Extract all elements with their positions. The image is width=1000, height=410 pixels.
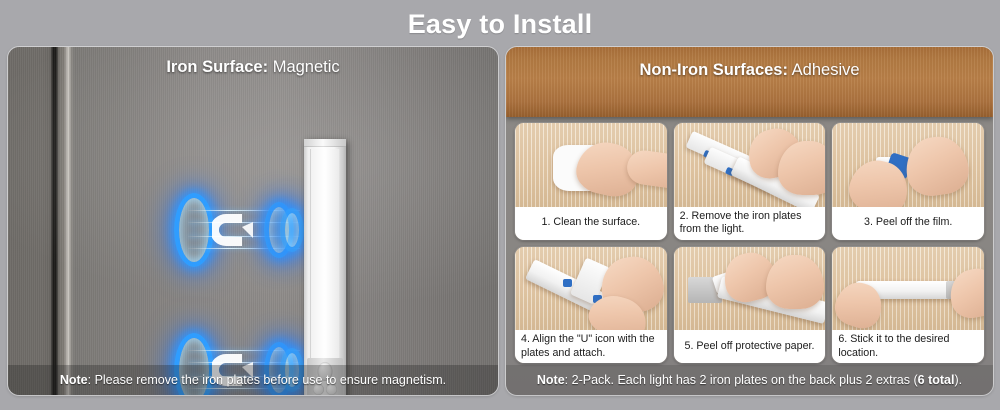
note-label: Note [60,373,88,387]
iron-surface-note: Note: Please remove the iron plates befo… [8,365,498,395]
hand [946,264,984,322]
step-caption-2: 2. Remove the iron plates from the light… [674,207,826,240]
install-steps-grid: 1. Clean the surface. 2. Remove the iron… [515,123,984,363]
note-text: : Please remove the iron plates before u… [88,373,447,387]
step-photo-3 [832,123,984,207]
light-bar-diffuser [310,149,340,359]
non-iron-surface-title-bold: Non-Iron Surfaces: [639,61,788,79]
wood-header-band: Non-Iron Surfaces: Adhesive [506,47,993,117]
step-card-3: 3. Peel off the film. [832,123,984,240]
step-photo-5 [674,247,826,331]
step-caption-6: 6. Stick it to the desired location. [832,330,984,363]
note-label: Note [537,373,565,387]
non-iron-surface-title-rest: Adhesive [788,61,860,79]
note-text-bold: 6 total [918,373,955,387]
step-photo-6 [832,247,984,331]
led-light-bar [304,139,346,395]
step-card-1: 1. Clean the surface. [515,123,667,240]
non-iron-surface-panel: Non-Iron Surfaces: Adhesive 1. Clean the… [506,47,993,395]
iron-surface-panel: Iron Surface: Magnetic [8,47,498,395]
note-text: : 2-Pack. Each light has 2 iron plates o… [565,373,918,387]
non-iron-surface-title: Non-Iron Surfaces: Adhesive [506,61,993,80]
iron-surface-title: Iron Surface: Magnetic [8,58,498,77]
hand [766,255,824,309]
non-iron-surface-note: Note: 2-Pack. Each light has 2 iron plat… [506,365,993,395]
iron-surface-title-rest: Magnetic [268,58,340,76]
step-card-6: 6. Stick it to the desired location. [832,247,984,364]
step-caption-1: 1. Clean the surface. [515,207,667,240]
step-photo-1 [515,123,667,207]
step-card-2: 2. Remove the iron plates from the light… [674,123,826,240]
step-card-4: 4. Align the "U" icon with the plates an… [515,247,667,364]
step-caption-4: 4. Align the "U" icon with the plates an… [515,330,667,363]
horseshoe-magnet-icon [212,210,254,250]
note-text-tail: ). [954,373,962,387]
step-caption-5: 5. Peel off protective paper. [674,330,826,363]
page-title: Easy to Install [0,2,1000,46]
step-card-5: 5. Peel off protective paper. [674,247,826,364]
blue-marker [563,279,572,287]
step-caption-3: 3. Peel off the film. [832,207,984,240]
iron-surface-title-bold: Iron Surface: [166,58,268,76]
hand [903,133,972,199]
magnet-glow-ring-inner [280,208,304,252]
light-bar-end-cap [304,139,346,147]
step-photo-4 [515,247,667,331]
step-photo-2 [674,123,826,207]
